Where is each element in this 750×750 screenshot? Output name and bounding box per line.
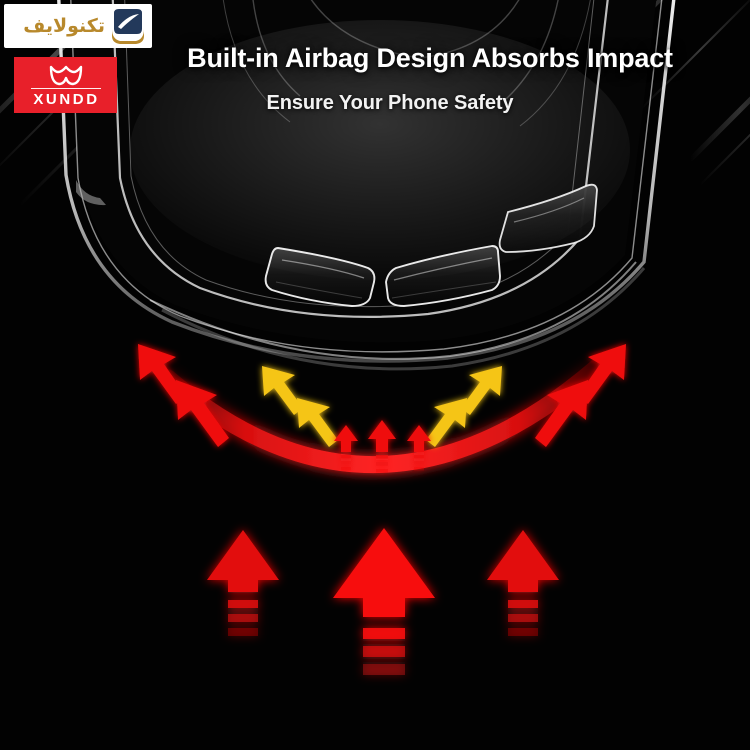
retailer-name: تکنولایف (23, 17, 105, 36)
xundd-wordmark: XUNDD (31, 92, 99, 107)
impact-arrow-center (333, 528, 435, 675)
promo-banner: تکنولایف XUNDD Built-in Airbag Design Ab… (0, 0, 750, 750)
technolife-logo-icon (108, 7, 148, 45)
xundd-shield-icon (49, 65, 83, 86)
xundd-divider (31, 88, 101, 89)
xundd-logo-badge: XUNDD (14, 57, 117, 113)
impact-arrow-left (207, 530, 279, 636)
impact-arrow-right (487, 530, 559, 636)
retailer-logo: تکنولایف (4, 4, 152, 48)
